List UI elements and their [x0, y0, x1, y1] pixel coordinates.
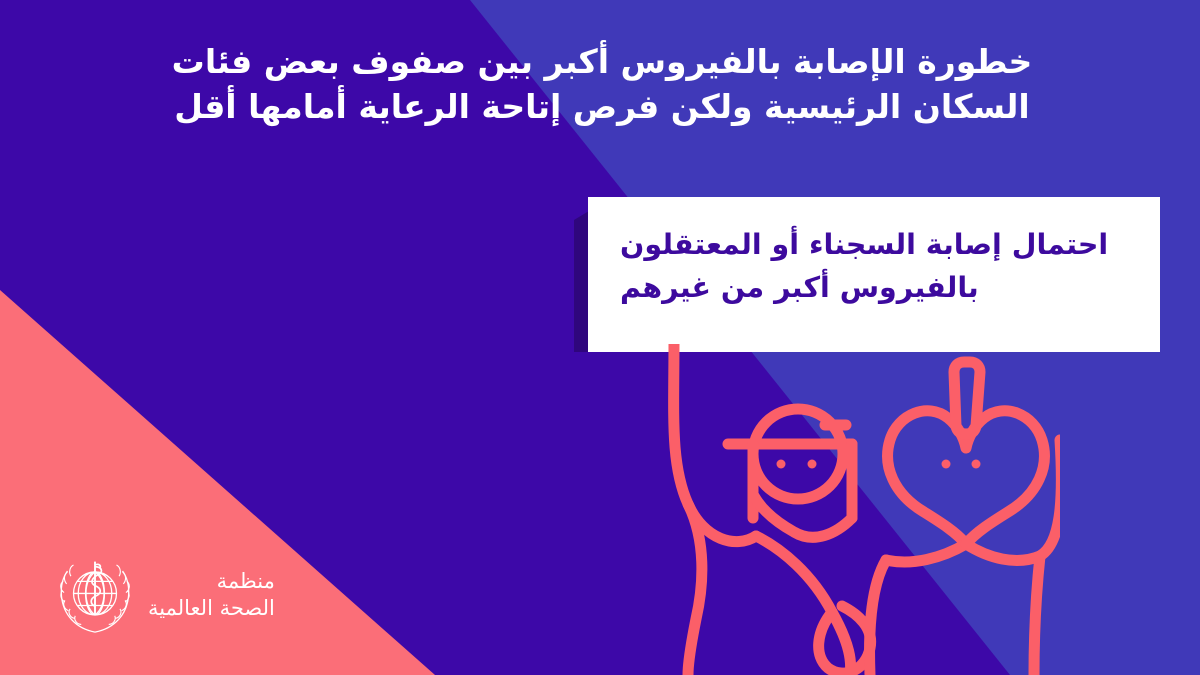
right-figure-shoulder-right	[966, 544, 1040, 560]
who-wordmark-line-1: منظمة	[148, 568, 275, 595]
headline-line-1: خطورة الإصابة بالفيروس أكبر بين صفوف بعض…	[92, 40, 1112, 85]
page-title: خطورة الإصابة بالفيروس أكبر بين صفوف بعض…	[92, 40, 1112, 130]
left-figure-body-left	[688, 504, 702, 675]
two-people-raised-arms-illustration	[636, 344, 1060, 675]
callout-line-2: بالفيروس أكبر من غيرهم	[620, 266, 979, 309]
right-figure-shoulder-left	[886, 544, 966, 562]
callout-box: احتمال إصابة السجناء أو المعتقلون بالفير…	[588, 197, 1160, 352]
right-figure-body-left	[870, 560, 886, 675]
right-figure-eye-left	[942, 460, 951, 469]
left-figure-body-right	[756, 536, 851, 675]
who-wordmark: منظمة الصحة العالمية	[148, 568, 275, 625]
right-figure-eye-right	[972, 460, 981, 469]
who-logo: منظمة الصحة العالمية	[52, 548, 312, 644]
who-social-card: خطورة الإصابة بالفيروس أكبر بين صفوف بعض…	[0, 0, 1200, 675]
headline-line-2: السكان الرئيسية ولكن فرص إتاحة الرعاية أ…	[92, 85, 1112, 130]
left-figure-eye-right	[808, 460, 817, 469]
right-figure-body-right	[1034, 556, 1040, 675]
callout-line-1: احتمال إصابة السجناء أو المعتقلون	[620, 223, 1108, 266]
left-figure-eye-left	[777, 460, 786, 469]
who-emblem-icon	[52, 553, 138, 639]
who-wordmark-line-2: الصحة العالمية	[148, 595, 275, 622]
right-figure-topknot	[954, 362, 980, 434]
